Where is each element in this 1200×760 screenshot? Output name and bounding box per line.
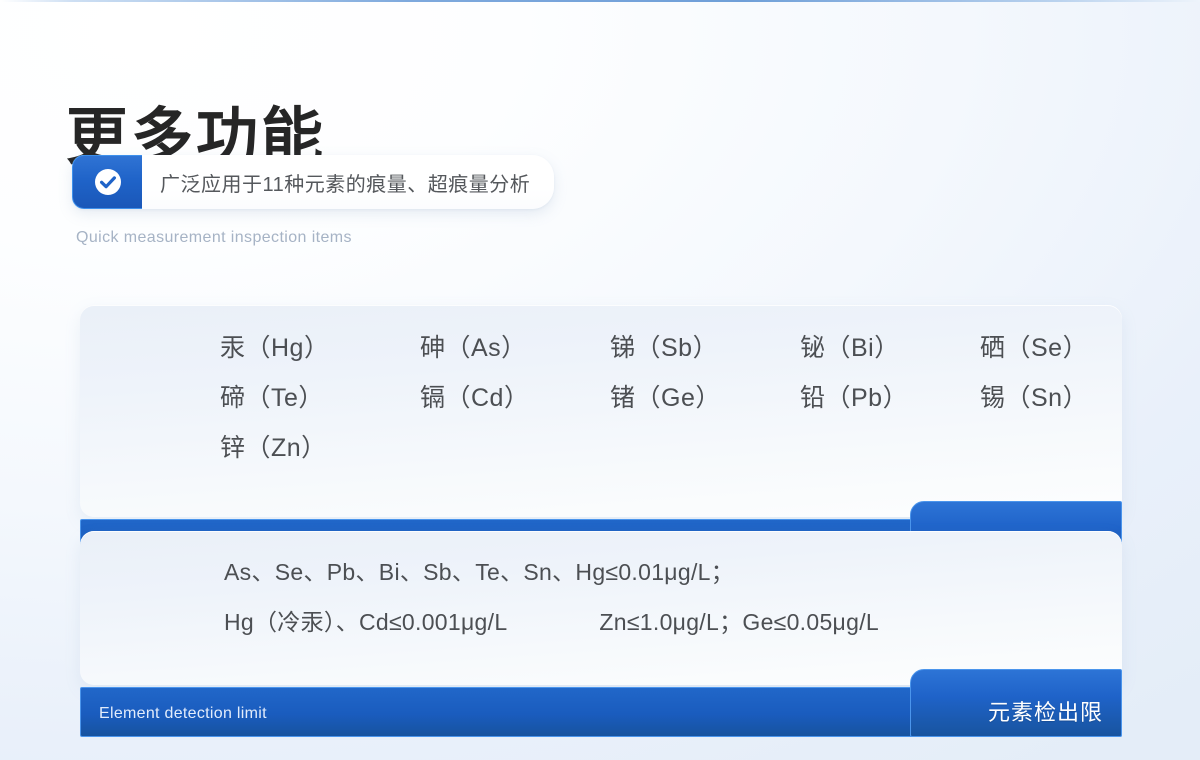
top-accent-rule [0, 0, 1200, 2]
card-footer-bar-tab: 元素检出限 [910, 669, 1122, 737]
highlight-badge: 广泛应用于11种元素的痕量、超痕量分析 [72, 155, 554, 209]
card-element-detection-limit: As、Se、Pb、Bi、Sb、Te、Sn、Hg≤0.01μg/L； Hg（冷汞）… [80, 531, 1122, 737]
element-item: 砷（As） [420, 323, 610, 373]
page-subtitle: Quick measurement inspection items [76, 229, 352, 247]
card-body: 汞（Hg） 砷（As） 锑（Sb） 铋（Bi） 硒（Se） 碲（Te） 镉（Cd… [80, 305, 1122, 517]
element-grid: 汞（Hg） 砷（As） 锑（Sb） 铋（Bi） 硒（Se） 碲（Te） 镉（Cd… [80, 323, 1122, 473]
element-item: 汞（Hg） [220, 323, 420, 373]
element-item: 锑（Sb） [610, 323, 800, 373]
element-item: 碲（Te） [220, 373, 420, 423]
element-item: 镉（Cd） [420, 373, 610, 423]
limit-line: Hg（冷汞）、Cd≤0.001μg/LZn≤1.0μg/L；Ge≤0.05μg/… [80, 597, 1122, 647]
page-root: 更多功能 广泛应用于11种元素的痕量、超痕量分析 Quick measureme… [0, 0, 1200, 760]
highlight-badge-pill: 广泛应用于11种元素的痕量、超痕量分析 [72, 155, 554, 209]
element-item: 锌（Zn） [220, 423, 420, 473]
element-item: 锡（Sn） [980, 373, 1122, 423]
card-label-cn: 元素检出限 [988, 695, 1103, 727]
element-item: 铅（Pb） [800, 373, 980, 423]
element-item: 铋（Bi） [800, 323, 980, 373]
check-circle-icon [72, 155, 142, 209]
highlight-badge-label: 广泛应用于11种元素的痕量、超痕量分析 [142, 168, 554, 197]
card-body: As、Se、Pb、Bi、Sb、Te、Sn、Hg≤0.01μg/L； Hg（冷汞）… [80, 531, 1122, 685]
limit-line-text: As、Se、Pb、Bi、Sb、Te、Sn、Hg≤0.01μg/L； [224, 559, 734, 585]
limit-line-text-secondary: Zn≤1.0μg/L；Ge≤0.05μg/L [507, 597, 879, 647]
limit-line-text: Hg（冷汞）、Cd≤0.001μg/L [224, 609, 507, 635]
card-label-en: Element detection limit [99, 705, 267, 723]
element-item: 硒（Se） [980, 323, 1122, 373]
card-footer-bar: Element detection limit 元素检出限 [80, 669, 1122, 737]
card-detection-element-range: 汞（Hg） 砷（As） 锑（Sb） 铋（Bi） 硒（Se） 碲（Te） 镉（Cd… [80, 305, 1122, 569]
element-item: 锗（Ge） [610, 373, 800, 423]
limit-line: As、Se、Pb、Bi、Sb、Te、Sn、Hg≤0.01μg/L； [80, 547, 1122, 597]
